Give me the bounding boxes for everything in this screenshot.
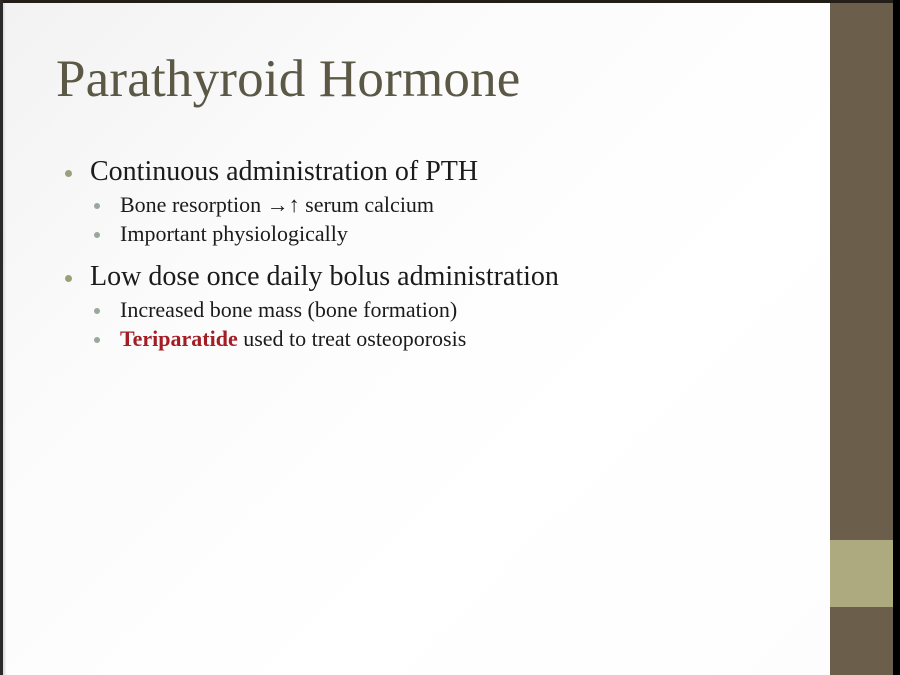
bullet-level2-item: Bone resorption →↑ serum calcium: [56, 194, 776, 216]
bullet-level1-label: Low dose once daily bolus administration: [90, 261, 559, 292]
bullet-dot-level2-icon: [94, 232, 100, 238]
sidebar-accent-block: [830, 540, 893, 607]
drug-name-highlight: Teriparatide: [120, 326, 238, 351]
bullet-level1-item: Low dose once daily bolus administration: [56, 263, 776, 291]
bullet-level2-label: Increased bone mass (bone formation): [120, 297, 457, 322]
slide-body-content: Continuous administration of PTH Bone re…: [56, 158, 776, 357]
bullet-group-1: Continuous administration of PTH Bone re…: [56, 158, 776, 245]
slide-right-border: [893, 0, 900, 675]
presentation-slide: Parathyroid Hormone Continuous administr…: [0, 0, 900, 675]
slide-title: Parathyroid Hormone: [56, 52, 521, 108]
bullet-dot-level1-icon: [65, 170, 72, 177]
bullet-group-2: Low dose once daily bolus administration…: [56, 263, 776, 350]
bullet-dot-level1-icon: [65, 275, 72, 282]
bullet-level2-label: used to treat osteoporosis: [238, 326, 467, 351]
bullet-level1-label: Continuous administration of PTH: [90, 156, 478, 187]
slide-left-border: [0, 0, 3, 675]
bullet-level2-item-highlighted: Teriparatide used to treat osteoporosis: [56, 328, 776, 350]
bullet-level2-item: Important physiologically: [56, 223, 776, 245]
bullet-dot-level2-icon: [94, 308, 100, 314]
bullet-level2-label: Bone resorption →↑ serum calcium: [120, 192, 434, 217]
bullet-level1-item: Continuous administration of PTH: [56, 158, 776, 186]
bullet-dot-level2-icon: [94, 203, 100, 209]
bullet-dot-level2-icon: [94, 337, 100, 343]
bullet-level2-item: Increased bone mass (bone formation): [56, 299, 776, 321]
slide-top-border: [0, 0, 900, 3]
bullet-level2-label: Important physiologically: [120, 221, 348, 246]
